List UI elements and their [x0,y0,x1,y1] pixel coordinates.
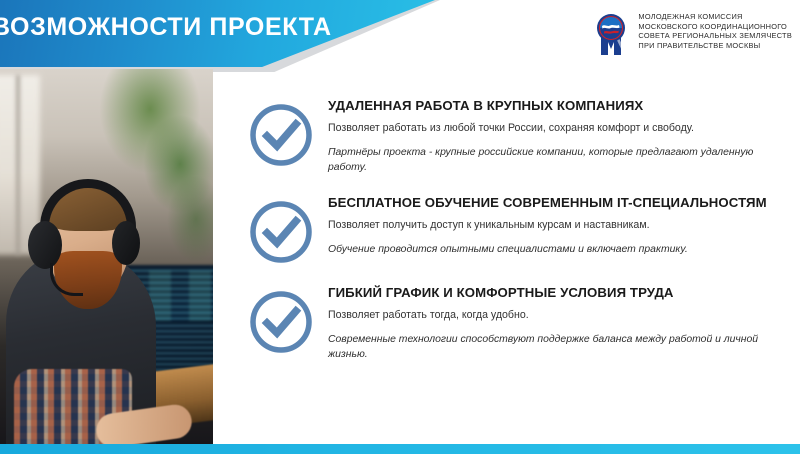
logo-line-4: ПРИ ПРАВИТЕЛЬСТВЕ МОСКВЫ [638,41,792,51]
feature-description: Позволяет работать из любой точки России… [328,122,800,136]
feature-note: Обучение проводится опытными специалиста… [328,242,778,257]
photo-headphone-earcup-left [28,221,62,269]
presentation-slide: ВОЗМОЖНОСТИ ПРОЕКТА МОЛОДЕЖНАЯ КОМИССИЯ … [0,0,800,454]
logo-text-block: МОЛОДЕЖНАЯ КОМИССИЯ МОСКОВСКОГО КООРДИНА… [638,11,792,50]
features-list: УДАЛЕННАЯ РАБОТА В КРУПНЫХ КОМПАНИЯХ Поз… [240,96,800,380]
feature-description: Позволяет работать тогда, когда удобно. [328,309,800,323]
feature-title: УДАЛЕННАЯ РАБОТА В КРУПНЫХ КОМПАНИЯХ [328,98,800,113]
bottom-accent-bar [0,444,800,454]
feature-text-block: ГИБКИЙ ГРАФИК И КОМФОРТНЫЕ УСЛОВИЯ ТРУДА… [328,283,800,362]
photo-window-mullion [16,75,20,255]
check-circle-icon [248,199,314,265]
check-circle-icon [248,289,314,355]
logo-line-3: СОВЕТА РЕГИОНАЛЬНЫХ ЗЕМЛЯЧЕСТВ [638,31,792,41]
feature-note: Партнёры проекта - крупные российские ко… [328,145,778,175]
feature-note: Современные технологии способствуют подд… [328,332,778,362]
feature-title: БЕСПЛАТНОЕ ОБУЧЕНИЕ СОВРЕМЕННЫМ IT-СПЕЦИ… [328,195,800,210]
feature-text-block: БЕСПЛАТНОЕ ОБУЧЕНИЕ СОВРЕМЕННЫМ IT-СПЕЦИ… [328,193,800,257]
logo-line-1: МОЛОДЕЖНАЯ КОМИССИЯ [638,12,792,22]
photo-headphone-earcup-right [112,221,140,265]
feature-text-block: УДАЛЕННАЯ РАБОТА В КРУПНЫХ КОМПАНИЯХ Поз… [328,96,800,175]
organization-logo: МОЛОДЕЖНАЯ КОМИССИЯ МОСКОВСКОГО КООРДИНА… [591,11,792,56]
check-circle-icon [248,102,314,168]
feature-item: БЕСПЛАТНОЕ ОБУЧЕНИЕ СОВРЕМЕННЫМ IT-СПЕЦИ… [240,193,800,265]
feature-icon-wrapper [240,193,328,265]
feature-item: ГИБКИЙ ГРАФИК И КОМФОРТНЫЕ УСЛОВИЯ ТРУДА… [240,283,800,362]
photo-worker-with-headphones [0,69,213,444]
feature-description: Позволяет получить доступ к уникальным к… [328,219,800,233]
feature-title: ГИБКИЙ ГРАФИК И КОМФОРТНЫЕ УСЛОВИЯ ТРУДА [328,285,800,300]
page-title: ВОЗМОЖНОСТИ ПРОЕКТА [0,13,332,42]
feature-icon-wrapper [240,283,328,355]
logo-line-2: МОСКОВСКОГО КООРДИНАЦИОННОГО [638,22,792,32]
feature-icon-wrapper [240,96,328,168]
feature-item: УДАЛЕННАЯ РАБОТА В КРУПНЫХ КОМПАНИЯХ Поз… [240,96,800,175]
youth-commission-emblem-icon [591,11,631,56]
